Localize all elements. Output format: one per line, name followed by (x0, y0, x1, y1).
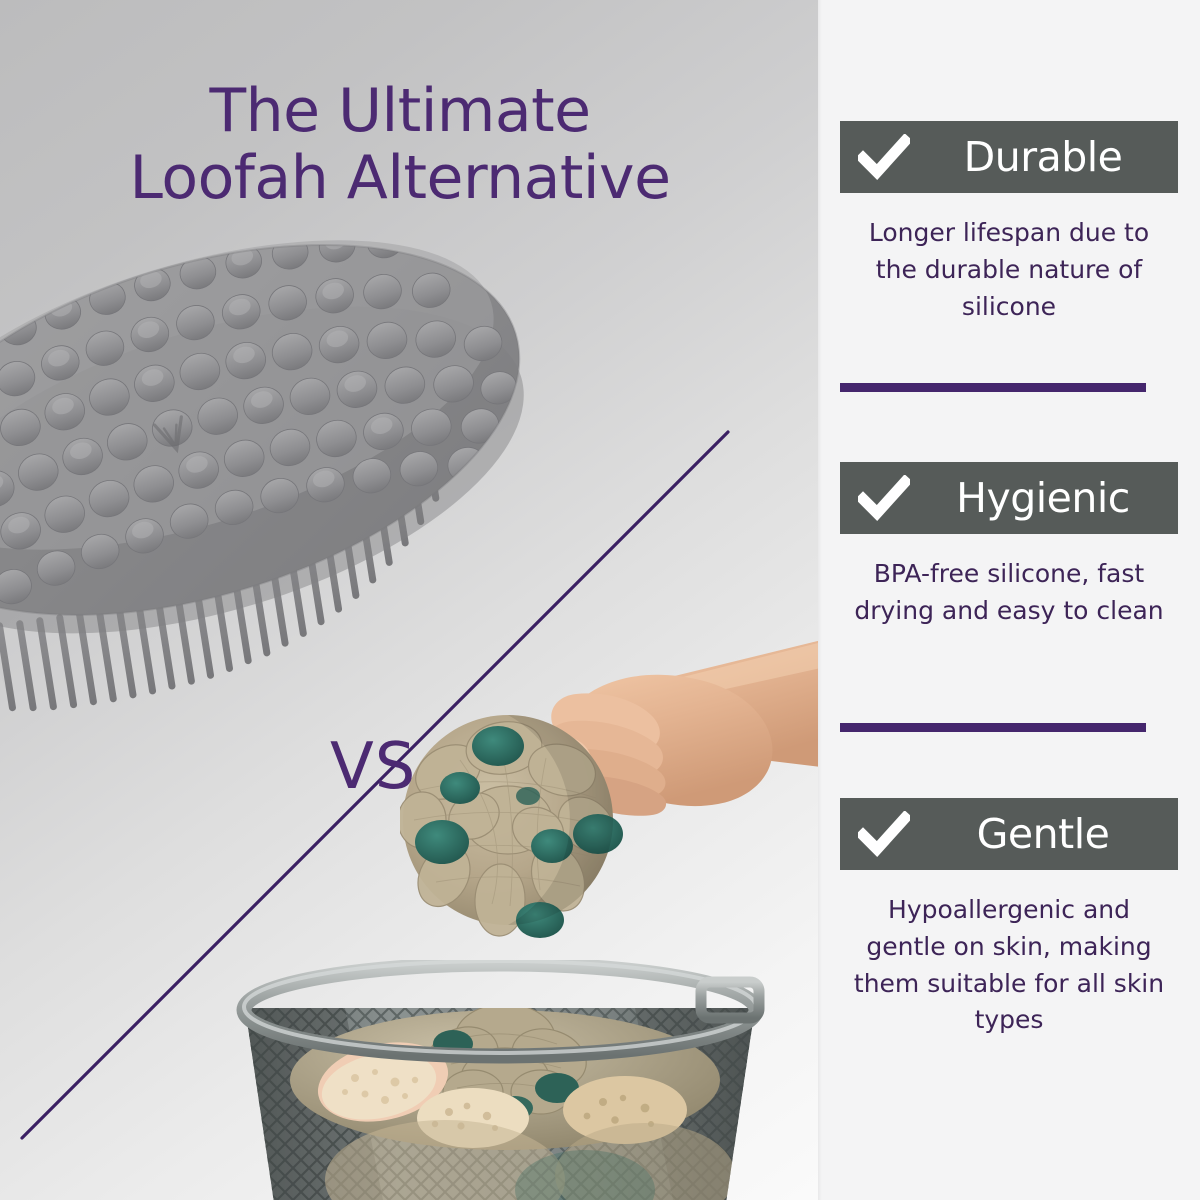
feature-divider-1 (840, 383, 1146, 392)
feature-title-durable: Durable (916, 137, 1178, 178)
hand-holding-loofah-image (400, 620, 818, 980)
page-title-line-1: The Ultimate (0, 78, 800, 145)
page-title: The Ultimate Loofah Alternative (0, 78, 800, 212)
check-icon (858, 475, 910, 521)
infographic-page: The Ultimate Loofah Alternative VS Durab… (0, 0, 1200, 1200)
feature-description-durable: Longer lifespan due to the durable natur… (840, 215, 1178, 325)
feature-title-gentle: Gentle (916, 814, 1178, 855)
versus-label: VS (330, 735, 416, 799)
feature-block-gentle: Gentle Hypoallergenic and gentle on skin… (840, 798, 1178, 1039)
page-title-line-2: Loofah Alternative (0, 145, 800, 212)
feature-description-hygienic: BPA-free silicone, fast drying and easy … (840, 556, 1178, 630)
feature-title-hygienic: Hygienic (916, 478, 1178, 519)
feature-banner-durable: Durable (840, 121, 1178, 193)
feature-banner-hygienic: Hygienic (840, 462, 1178, 534)
feature-block-durable: Durable Longer lifespan due to the durab… (840, 121, 1178, 325)
feature-block-hygienic: Hygienic BPA-free silicone, fast drying … (840, 462, 1178, 630)
wastebasket-of-used-loofahs-image (205, 960, 795, 1200)
feature-banner-gentle: Gentle (840, 798, 1178, 870)
check-icon (858, 134, 910, 180)
feature-description-gentle: Hypoallergenic and gentle on skin, makin… (840, 892, 1178, 1039)
feature-divider-2 (840, 723, 1146, 732)
product-comparison-panel: The Ultimate Loofah Alternative VS (0, 0, 818, 1200)
panel-seam-divider (818, 0, 822, 1200)
feature-list-panel: Durable Longer lifespan due to the durab… (818, 0, 1200, 1200)
check-icon (858, 811, 910, 857)
